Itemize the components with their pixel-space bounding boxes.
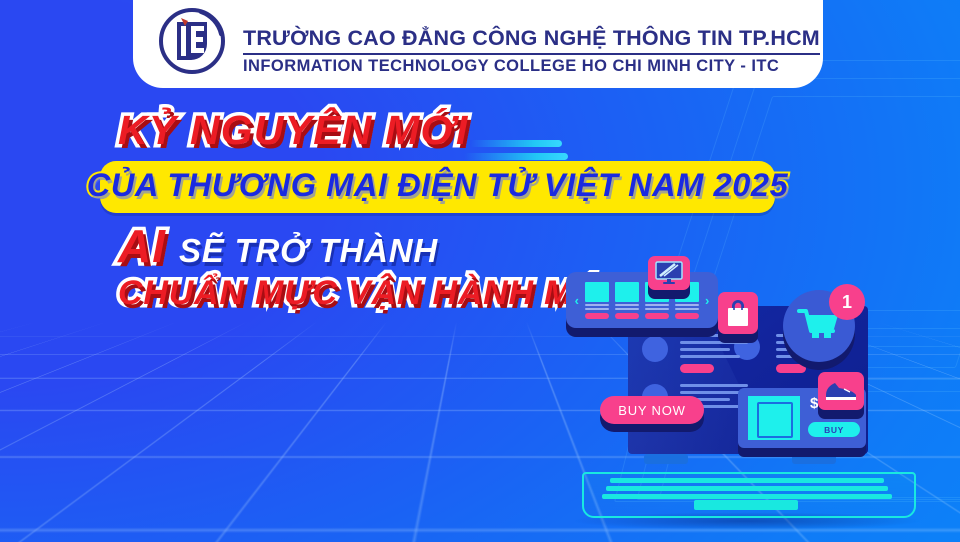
buy-label: BUY — [824, 425, 844, 435]
shopping-bag-tile — [718, 292, 758, 334]
headline-ai-accent: AI — [118, 223, 166, 269]
laptop-keyboard — [582, 450, 912, 514]
buy-now-label: BUY NOW — [618, 403, 685, 418]
product-carousel[interactable]: ‹ › — [566, 272, 718, 328]
shopping-bag-icon — [725, 298, 751, 328]
cart-count-badge: 1 — [829, 284, 865, 320]
college-name-vi: TRƯỜNG CAO ĐẲNG CÔNG NGHỆ THÔNG TIN TP.H… — [243, 27, 820, 50]
sneaker-icon — [824, 380, 858, 402]
ecommerce-illustration: ‹ › — [548, 250, 960, 542]
headline-line-3-rest: SẼ TRỞ THÀNH — [179, 234, 438, 267]
buy-button[interactable]: BUY — [808, 422, 860, 437]
college-header-card: TRƯỜNG CAO ĐẲNG CÔNG NGHỆ THÔNG TIN TP.H… — [133, 0, 823, 88]
monitor-tile — [648, 256, 690, 290]
headline-line-1: KỶ NGUYÊN MỚI — [118, 108, 640, 153]
headline-block: KỶ NGUYÊN MỚI CỦA THƯƠNG MẠI ĐIỆN TỬ VIỆ… — [0, 108, 640, 312]
itc-logo-icon — [155, 6, 229, 76]
headline-line-2: CỦA THƯƠNG MẠI ĐIỆN TỬ VIỆT NAM 2025 — [87, 168, 788, 204]
header-divider — [243, 53, 820, 55]
carousel-product-card[interactable] — [585, 282, 609, 319]
monitor-icon — [655, 261, 683, 285]
college-name-en: INFORMATION TECHNOLOGY COLLEGE HO CHI MI… — [243, 58, 820, 75]
banner-canvas: TRƯỜNG CAO ĐẲNG CÔNG NGHỆ THÔNG TIN TP.H… — [0, 0, 960, 542]
carousel-next-icon[interactable]: › — [705, 294, 709, 307]
carousel-product-card[interactable] — [615, 282, 639, 319]
carousel-prev-icon[interactable]: ‹ — [575, 294, 579, 307]
header-text-block: TRƯỜNG CAO ĐẲNG CÔNG NGHỆ THÔNG TIN TP.H… — [243, 27, 820, 78]
shopping-cart-badge-group[interactable]: 1 — [783, 290, 855, 362]
headline-yellow-banner: CỦA THƯƠNG MẠI ĐIỆN TỬ VIỆT NAM 2025 — [100, 161, 775, 213]
payment-card-icon — [748, 396, 800, 440]
sneaker-tile — [818, 372, 864, 410]
buy-now-button[interactable]: BUY NOW — [600, 396, 704, 424]
